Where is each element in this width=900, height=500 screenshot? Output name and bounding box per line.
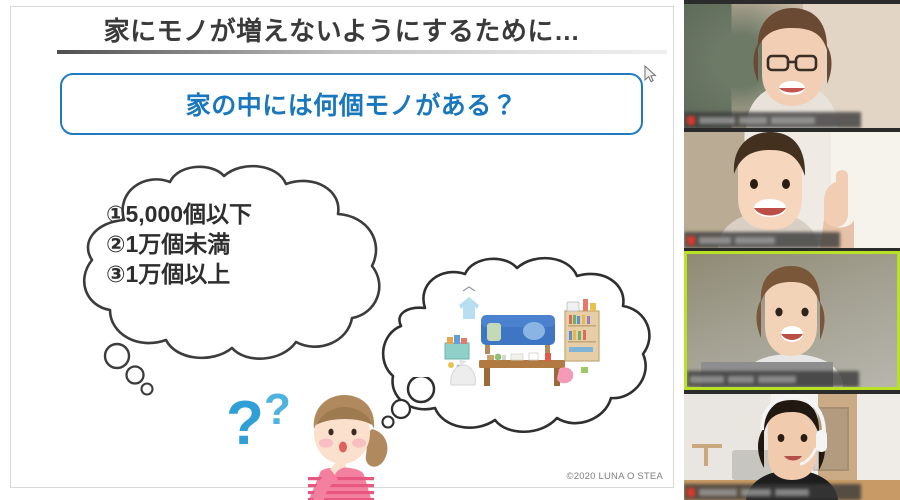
participant-name-redacted	[699, 117, 735, 124]
thought-trail-bubbles-right	[381, 377, 443, 431]
participant-name-redacted	[699, 237, 731, 244]
page-title: 家にモノが増えないようにするために…	[11, 11, 673, 48]
slide-frame: 家にモノが増えないようにするために… 家の中には何個モノがある？ ①5,000個…	[10, 6, 674, 488]
cluttered-living-room-illustration	[441, 285, 616, 395]
bookshelf-icon	[565, 299, 599, 361]
participant-name-bar	[684, 232, 840, 248]
participant-avatar	[684, 4, 900, 128]
video-tile-participant-1[interactable]	[684, 4, 900, 128]
participant-name-bar	[684, 484, 861, 500]
video-tile-participant-2[interactable]	[684, 132, 900, 248]
mute-icon	[687, 488, 695, 497]
copyright-notice: ©2020 LUNA O STEA	[567, 471, 663, 482]
screen-share-meeting-window: 家にモノが増えないようにするために… 家の中には何個モノがある？ ①5,000個…	[0, 0, 900, 500]
mute-icon	[687, 116, 695, 125]
answer-options-list: ①5,000個以下 ②1万個未満 ③1万個以上	[106, 199, 356, 289]
participant-name-redacted	[735, 237, 775, 244]
list-item: ①5,000個以下	[106, 199, 356, 229]
participant-avatar	[687, 254, 897, 387]
pink-clutter-icon	[557, 367, 588, 383]
hanging-shirt-icon	[459, 287, 479, 319]
participant-name-bar	[684, 112, 861, 128]
participant-name-redacted	[699, 489, 737, 496]
participant-name-redacted	[771, 117, 815, 124]
participant-avatar	[684, 132, 900, 248]
shared-slide-area[interactable]: 家にモノが増えないようにするために… 家の中には何個モノがある？ ①5,000個…	[0, 0, 684, 500]
bean-bag-icon	[451, 360, 476, 385]
question-callout-box: 家の中には何個モノがある？	[60, 73, 643, 135]
list-item: ③1万個以上	[106, 259, 356, 289]
participant-name-bar	[687, 371, 859, 387]
participant-video-panel[interactable]	[684, 0, 900, 500]
participant-name-redacted	[690, 376, 724, 383]
question-text: 家の中には何個モノがある？	[186, 86, 518, 122]
mute-icon	[687, 236, 695, 245]
sofa-icon	[481, 315, 555, 354]
toy-box-icon	[445, 335, 469, 369]
title-divider-rule	[57, 50, 667, 54]
video-tile-participant-4[interactable]	[684, 394, 900, 500]
coffee-table-icon	[479, 353, 565, 386]
video-tile-participant-3-active-speaker[interactable]	[684, 251, 900, 390]
svg-text:?: ?	[226, 389, 264, 458]
mouse-cursor-arrow-icon	[644, 65, 657, 83]
participant-name-redacted	[741, 489, 771, 496]
participant-name-redacted	[739, 117, 767, 124]
thinking-girl-illustration	[286, 377, 396, 500]
participant-name-redacted	[758, 376, 796, 383]
list-item: ②1万個未満	[106, 229, 356, 259]
participant-name-redacted	[775, 489, 809, 496]
participant-name-redacted	[728, 376, 754, 383]
thought-trail-bubbles-left	[91, 342, 161, 402]
